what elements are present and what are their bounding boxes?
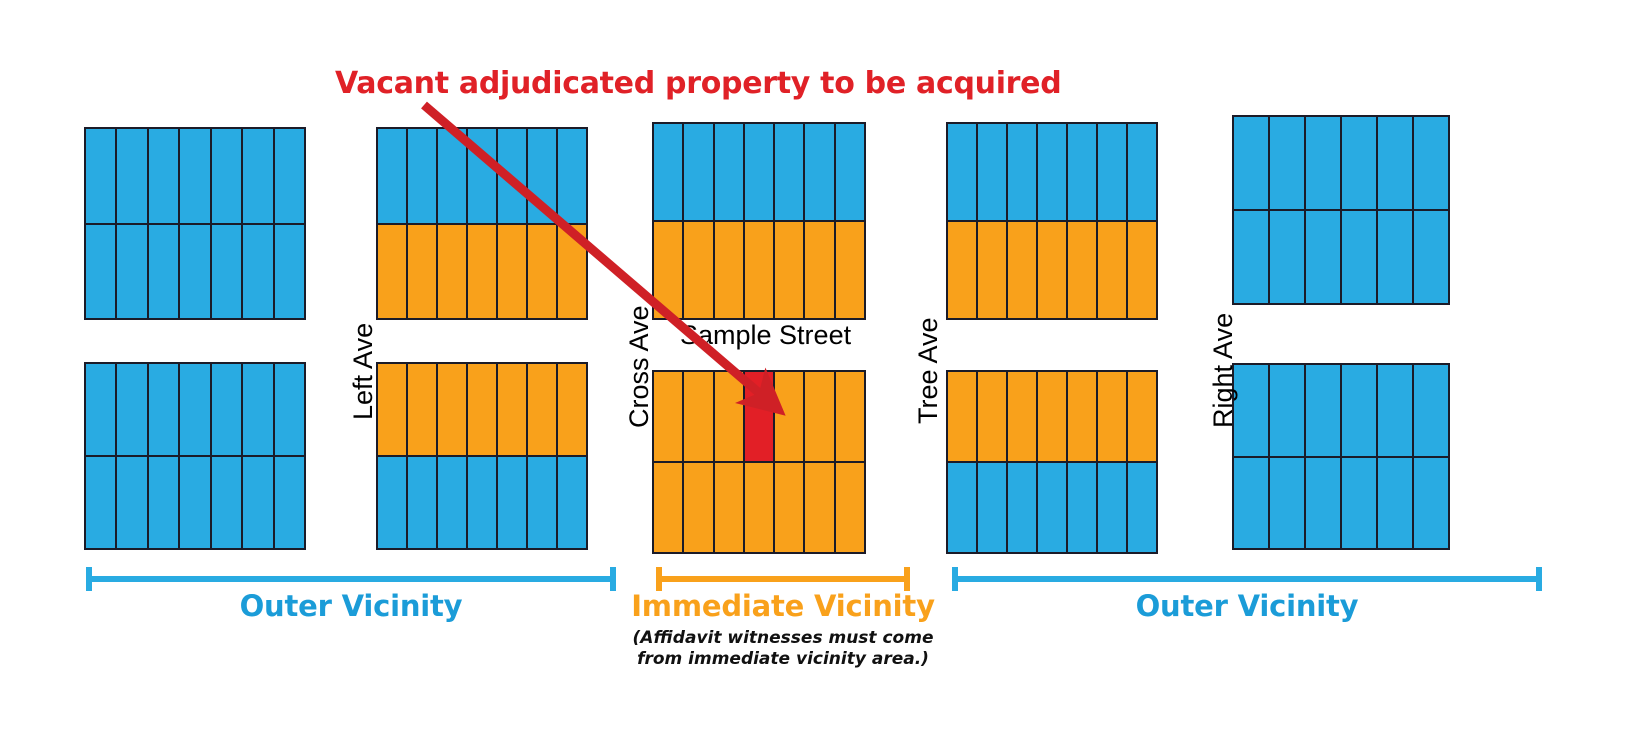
parcel [378, 129, 406, 223]
parcel [526, 225, 556, 319]
block-row [1234, 209, 1448, 303]
parcel [178, 364, 209, 455]
block-row [378, 129, 586, 223]
parcel [976, 222, 1006, 318]
parcel [803, 372, 833, 461]
parcel [86, 129, 115, 223]
block-far-right-upper [1232, 115, 1450, 305]
parcel [948, 372, 976, 461]
parcel [1340, 211, 1376, 303]
parcel [1126, 124, 1156, 220]
parcel [1096, 463, 1126, 552]
parcel [1340, 458, 1376, 549]
parcel [1006, 372, 1036, 461]
parcel [1304, 458, 1340, 549]
parcel [1340, 365, 1376, 456]
parcel [713, 372, 743, 461]
parcel [803, 124, 833, 220]
block-row [948, 220, 1156, 318]
parcel [1036, 124, 1066, 220]
parcel [1412, 117, 1448, 209]
street-label-right-ave: Right Ave [1208, 313, 1239, 428]
parcel [466, 457, 496, 548]
parcel [378, 457, 406, 548]
parcel [556, 364, 586, 455]
parcel [378, 364, 406, 455]
block-row [654, 220, 864, 318]
parcel [210, 129, 241, 223]
parcel [834, 372, 864, 461]
parcel [210, 364, 241, 455]
block-row [86, 223, 304, 319]
parcel [1096, 124, 1126, 220]
block-right-upper [946, 122, 1158, 320]
parcel [526, 129, 556, 223]
bracket-bar [952, 576, 1542, 582]
parcel [773, 124, 803, 220]
block-row [654, 124, 864, 220]
parcel [1234, 211, 1268, 303]
block-row [1234, 456, 1448, 549]
parcel [1376, 365, 1412, 456]
parcel [406, 129, 436, 223]
parcel [526, 364, 556, 455]
parcel [654, 222, 682, 318]
parcel [147, 129, 178, 223]
parcel [436, 129, 466, 223]
parcel [496, 457, 526, 548]
parcel [803, 222, 833, 318]
parcel [241, 129, 272, 223]
parcel [1234, 458, 1268, 549]
parcel [147, 457, 178, 548]
parcel [436, 364, 466, 455]
parcel [1268, 211, 1304, 303]
parcel [1304, 211, 1340, 303]
block-far-left-lower [84, 362, 306, 550]
parcel [273, 457, 304, 548]
parcel [273, 225, 304, 319]
block-row [378, 223, 586, 319]
parcel [1234, 117, 1268, 209]
parcel [773, 372, 803, 461]
parcel [147, 364, 178, 455]
parcel [1066, 222, 1096, 318]
parcel [147, 225, 178, 319]
parcel [1036, 463, 1066, 552]
parcel [743, 124, 773, 220]
parcel [713, 124, 743, 220]
parcel [1006, 463, 1036, 552]
parcel [834, 463, 864, 552]
parcel [682, 124, 712, 220]
parcel [178, 457, 209, 548]
parcel [682, 222, 712, 318]
parcel [976, 463, 1006, 552]
bracket-cap-right [610, 567, 616, 591]
block-row [948, 461, 1156, 552]
parcel [1066, 463, 1096, 552]
parcel [556, 457, 586, 548]
block-row [86, 364, 304, 455]
parcel [1096, 222, 1126, 318]
parcel [496, 364, 526, 455]
parcel [273, 129, 304, 223]
parcel [406, 225, 436, 319]
parcel [241, 364, 272, 455]
parcel [743, 463, 773, 552]
parcel [378, 225, 406, 319]
parcel [1412, 458, 1448, 549]
bracket-outer-vicinity-right [952, 567, 1542, 589]
parcel [743, 222, 773, 318]
parcel [803, 463, 833, 552]
parcel [654, 372, 682, 461]
parcel [1066, 372, 1096, 461]
parcel [1126, 372, 1156, 461]
parcel [436, 457, 466, 548]
parcel [1036, 372, 1066, 461]
block-left-lower [376, 362, 588, 550]
parcel [436, 225, 466, 319]
block-far-left-upper [84, 127, 306, 320]
parcel [86, 225, 115, 319]
block-row [948, 124, 1156, 220]
parcel [976, 124, 1006, 220]
parcel [86, 457, 115, 548]
bracket-bar [86, 576, 616, 582]
parcel [1304, 117, 1340, 209]
bracket-cap-right [1536, 567, 1542, 591]
label-outer-vicinity-left: Outer Vicinity [86, 589, 616, 623]
bracket-cap-right [904, 567, 910, 591]
block-row [86, 455, 304, 548]
parcel [682, 372, 712, 461]
parcel [1340, 117, 1376, 209]
parcel [178, 225, 209, 319]
block-row [378, 455, 586, 548]
parcel [1126, 463, 1156, 552]
bracket-outer-vicinity-left [86, 567, 616, 589]
parcel [1412, 365, 1448, 456]
parcel [526, 457, 556, 548]
block-row [654, 461, 864, 552]
parcel [556, 225, 586, 319]
parcel [948, 124, 976, 220]
block-row [378, 364, 586, 455]
parcel [1096, 372, 1126, 461]
block-row [948, 372, 1156, 461]
label-outer-vicinity-right: Outer Vicinity [952, 589, 1542, 623]
parcel [976, 372, 1006, 461]
parcel [1268, 117, 1304, 209]
parcel [466, 225, 496, 319]
label-immediate-vicinity-note: (Affidavit witnesses must come from imme… [620, 628, 946, 671]
parcel [1066, 124, 1096, 220]
parcel [1376, 117, 1412, 209]
parcel [654, 463, 682, 552]
block-row [654, 372, 864, 461]
parcel [115, 457, 146, 548]
parcel [406, 364, 436, 455]
block-row [1234, 117, 1448, 209]
parcel [115, 364, 146, 455]
block-far-right-lower [1232, 363, 1450, 550]
parcel [654, 124, 682, 220]
parcel [773, 463, 803, 552]
street-label-tree-ave: Tree Ave [913, 317, 944, 424]
parcel [1126, 222, 1156, 318]
parcel [406, 457, 436, 548]
parcel [496, 129, 526, 223]
parcel [1036, 222, 1066, 318]
parcel [1006, 222, 1036, 318]
block-center-upper [652, 122, 866, 320]
parcel [115, 129, 146, 223]
bracket-bar [656, 576, 910, 582]
parcel [466, 129, 496, 223]
block-right-lower [946, 370, 1158, 554]
parcel [948, 222, 976, 318]
parcel [1304, 365, 1340, 456]
parcel [1412, 211, 1448, 303]
parcel [948, 463, 976, 552]
parcel [556, 129, 586, 223]
parcel [466, 364, 496, 455]
parcel [1268, 365, 1304, 456]
parcel [496, 225, 526, 319]
parcel [773, 222, 803, 318]
parcel [713, 222, 743, 318]
block-center-lower [652, 370, 866, 554]
parcel [178, 129, 209, 223]
parcel [241, 457, 272, 548]
street-label-sample-street: Sample Street [680, 320, 851, 351]
diagram-canvas: Vacant adjudicated property to be acquir… [0, 0, 1650, 750]
parcel [241, 225, 272, 319]
parcel [1268, 458, 1304, 549]
label-immediate-vicinity: Immediate Vicinity [620, 589, 946, 623]
parcel [682, 463, 712, 552]
parcel-vacant-adjudicated[interactable] [743, 372, 773, 461]
parcel [834, 124, 864, 220]
parcel [86, 364, 115, 455]
parcel [834, 222, 864, 318]
parcel [1006, 124, 1036, 220]
parcel [1376, 458, 1412, 549]
parcel [210, 225, 241, 319]
parcel [1234, 365, 1268, 456]
block-row [86, 129, 304, 223]
block-row [1234, 365, 1448, 456]
parcel [273, 364, 304, 455]
bracket-immediate-vicinity [656, 567, 910, 589]
callout-title: Vacant adjudicated property to be acquir… [335, 66, 1061, 101]
parcel [1376, 211, 1412, 303]
parcel [210, 457, 241, 548]
parcel [115, 225, 146, 319]
parcel [713, 463, 743, 552]
block-left-upper [376, 127, 588, 320]
street-label-left-ave: Left Ave [348, 323, 379, 420]
street-label-cross-ave: Cross Ave [624, 305, 655, 428]
